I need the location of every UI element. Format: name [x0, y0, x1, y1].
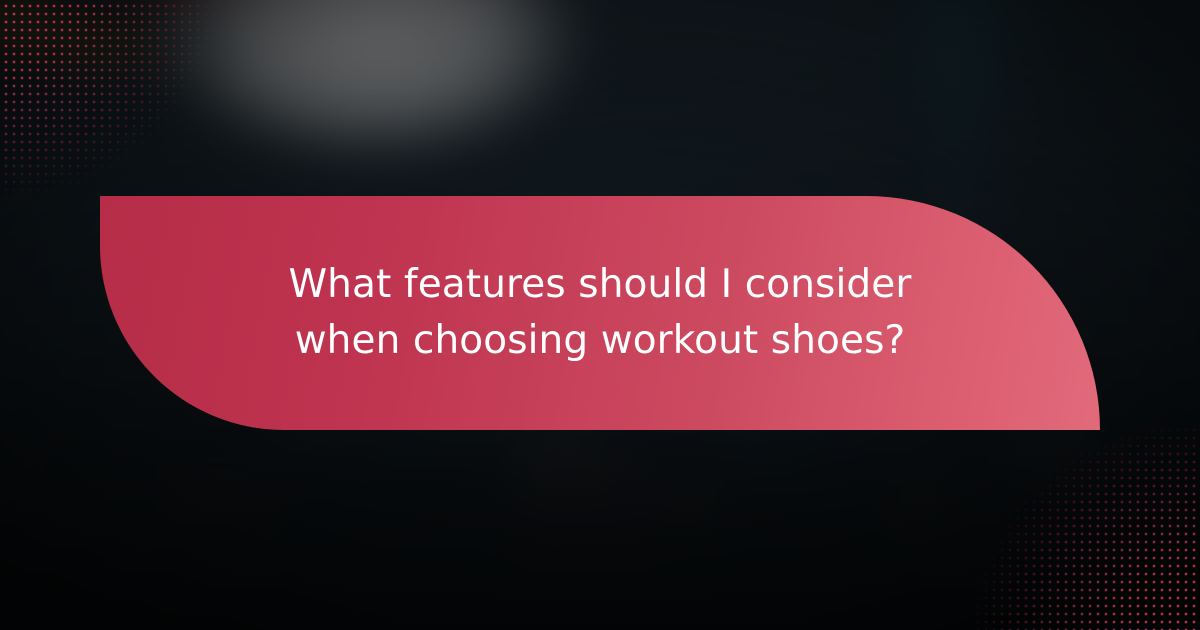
promo-card: What features should I consider when cho… — [0, 0, 1200, 630]
question-banner: What features should I consider when cho… — [100, 196, 1100, 430]
question-title: What features should I consider when cho… — [250, 257, 950, 369]
